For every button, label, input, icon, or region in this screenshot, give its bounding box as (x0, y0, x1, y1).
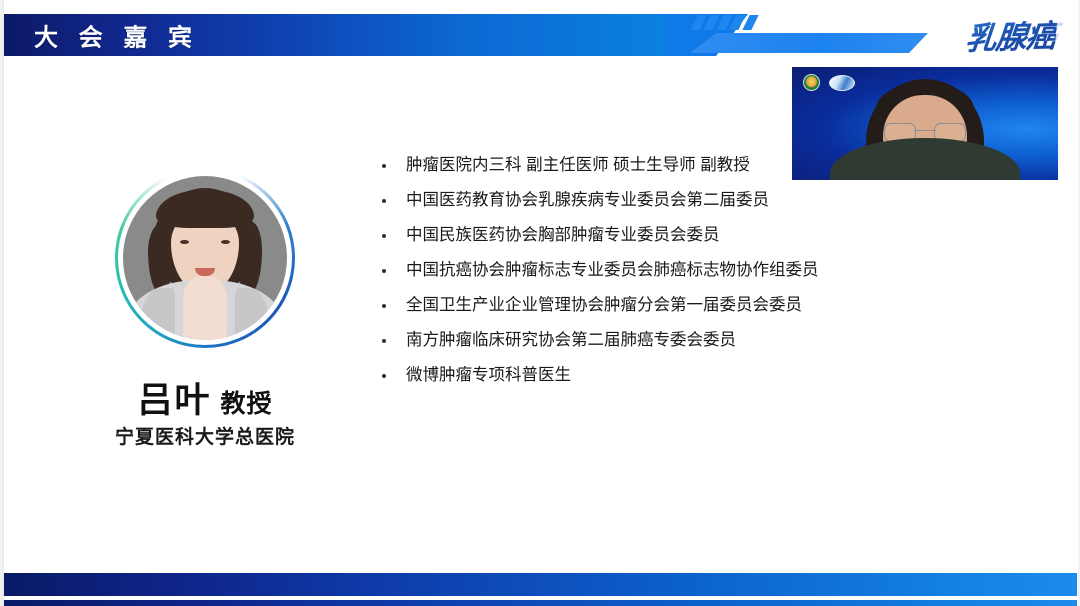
speaker-name-block: 吕叶教授 (0, 372, 410, 423)
diagonal-stripes-decor-icon (694, 15, 766, 30)
list-item: 中国医药教育协会乳腺疾病专业委员会第二届委员 (378, 183, 938, 218)
list-item: 微博肿瘤专项科普医生 (378, 358, 938, 393)
list-item: 中国抗癌协会肿瘤标志专业委员会肺癌标志物协作组委员 (378, 253, 938, 288)
page-title: 大 会 嘉 宾 (34, 18, 199, 53)
list-item: 肿瘤医院内三科 副主任医师 硕士生导师 副教授 (378, 148, 938, 183)
list-item: 南方肿瘤临床研究协会第二届肺癌专委会委员 (378, 323, 938, 358)
webcam-overlay-logos (803, 74, 855, 91)
speaker-photo (123, 176, 287, 340)
conference-emblem-icon (803, 74, 820, 91)
speaker-name: 吕叶 (137, 381, 211, 420)
angled-stripe-decor-icon (690, 33, 928, 53)
list-item: 全国卫生产业企业管理协会肿瘤分会第一届委员会委员 (378, 288, 938, 323)
speaker-title: 教授 (221, 390, 273, 418)
list-item: 中国民族医药协会胸部肿瘤专业委员会委员 (378, 218, 938, 253)
brand-logo: 乳腺癌 (936, 10, 1056, 58)
slide-canvas: 大 会 嘉 宾 乳腺癌 (0, 0, 1080, 606)
slide-left-edge (0, 0, 4, 606)
brand-logo-text: 乳腺癌 (964, 10, 1058, 58)
footer-accent-strip (4, 600, 1077, 606)
header-banner: 大 会 嘉 宾 (4, 14, 676, 56)
speaker-bio-list: 肿瘤医院内三科 副主任医师 硕士生导师 副教授 中国医药教育协会乳腺疾病专业委员… (378, 148, 938, 393)
speaker-organization: 宁夏医科大学总医院 (0, 422, 410, 449)
speaker-portrait (115, 168, 295, 348)
sponsor-emblem-icon (829, 75, 855, 91)
footer-banner (4, 573, 1077, 596)
